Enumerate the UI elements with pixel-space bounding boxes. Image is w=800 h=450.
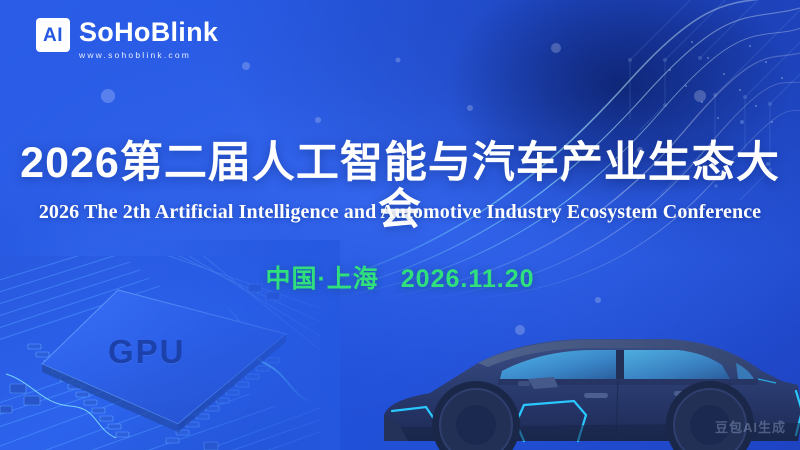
logo-ai-mark: AI bbox=[36, 18, 70, 52]
logo-brand-name: SoHoBlink bbox=[79, 19, 218, 46]
logo-text-block: SoHoBlink www.sohoblink.com bbox=[79, 18, 218, 60]
event-location: 中国·上海 bbox=[265, 265, 378, 293]
event-meta: 中国·上海 2026.11.20 bbox=[0, 264, 800, 294]
page-title-english: 2026 The 2th Artificial Intelligence and… bbox=[0, 200, 800, 224]
event-date: 2026.11.20 bbox=[401, 265, 535, 293]
conference-poster: GPU bbox=[0, 0, 800, 450]
ai-watermark: 豆包AI生成 bbox=[715, 417, 786, 436]
gpu-chip-label: GPU bbox=[108, 333, 186, 371]
logo-website-url: www.sohoblink.com bbox=[79, 51, 218, 60]
brand-logo[interactable]: AI SoHoBlink www.sohoblink.com bbox=[36, 18, 218, 60]
